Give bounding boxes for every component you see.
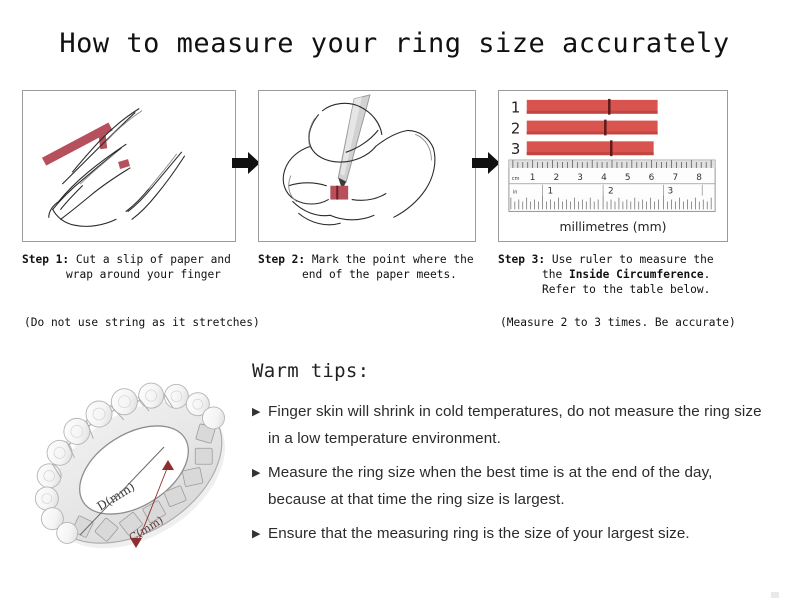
step-2-illustration-panel <box>258 90 476 242</box>
step-3-illustration-panel: 1 2 3 <box>498 90 728 242</box>
ruler-cm-tick-3: 3 <box>577 173 583 183</box>
corner-artifact <box>771 592 779 598</box>
step-3-caption: Step 3: Use ruler to measure the the Ins… <box>498 252 728 297</box>
step-3-note: (Measure 2 to 3 times. Be accurate) <box>500 316 736 329</box>
warm-tip-item: ▶ Measure the ring size when the best ti… <box>252 459 772 513</box>
ruler-inch-tick-2: 2 <box>608 187 614 197</box>
step-1-note: (Do not use string as it stretches) <box>24 316 260 329</box>
ring-diagram: D(mm) C(mm) <box>18 352 250 582</box>
step-3: 1 2 3 <box>498 90 728 297</box>
arrow-step2-to-step3 <box>472 150 500 176</box>
step-3-line2-emphasis: Inside Circumference <box>569 268 704 281</box>
ruler-cm-tick-2: 2 <box>554 173 560 183</box>
step-3-line2-suffix: . <box>704 268 711 281</box>
step-2-line2: end of the paper meets. <box>258 267 476 282</box>
step-1-line2: wrap around your finger <box>22 267 236 282</box>
ruler-inch-tick-1: 1 <box>548 187 554 197</box>
ruler-cm-tick-4: 4 <box>601 173 607 183</box>
warm-tip-text-2: Measure the ring size when the best time… <box>268 459 772 513</box>
strip-number-1: 1 <box>511 100 520 117</box>
ruler-inch-unit: in <box>513 190 518 196</box>
step-3-line1: Use ruler to measure the <box>552 253 714 266</box>
warm-tip-item: ▶ Ensure that the measuring ring is the … <box>252 520 772 547</box>
step-3-line2: the Inside Circumference. <box>498 267 728 282</box>
step-1: Step 1: Cut a slip of paper and wrap aro… <box>22 90 236 282</box>
ruler-cm-tick-8: 8 <box>696 173 702 183</box>
step-3-line3: Refer to the table below. <box>498 282 728 297</box>
step-1-line1: Cut a slip of paper and <box>76 253 231 266</box>
bullet-triangle-icon: ▶ <box>252 459 268 486</box>
ruler-inch-tick-3: 3 <box>668 187 674 197</box>
warm-tips-heading: Warm tips: <box>252 360 772 382</box>
step-1-illustration-panel <box>22 90 236 242</box>
ruler-with-paper-strips-icon: 1 2 3 <box>499 91 727 241</box>
step-3-line2-prefix: the <box>542 268 569 281</box>
ruler-cm-tick-1: 1 <box>530 173 536 183</box>
ruler-cm-tick-6: 6 <box>649 173 655 183</box>
page-title: How to measure your ring size accurately <box>0 28 789 59</box>
warm-tip-item: ▶ Finger skin will shrink in cold temper… <box>252 398 772 452</box>
ruler-cm-tick-7: 7 <box>672 173 678 183</box>
strip-number-3: 3 <box>511 141 520 158</box>
ruler-cm-unit: cm <box>512 176 520 182</box>
step-2: Step 2: Mark the point where the end of … <box>258 90 476 282</box>
warm-tips-section: Warm tips: ▶ Finger skin will shrink in … <box>252 360 772 554</box>
step-1-caption: Step 1: Cut a slip of paper and wrap aro… <box>22 252 236 282</box>
step-2-caption: Step 2: Mark the point where the end of … <box>258 252 476 282</box>
bullet-triangle-icon: ▶ <box>252 398 268 425</box>
step-2-label: Step 2: <box>258 253 305 266</box>
hand-marking-paper-with-pen-icon <box>259 91 475 241</box>
step-1-label: Step 1: <box>22 253 69 266</box>
diamond-eternity-ring-diagram: D(mm) C(mm) <box>18 352 250 582</box>
step-2-line1: Mark the point where the <box>312 253 474 266</box>
warm-tip-text-1: Finger skin will shrink in cold temperat… <box>268 398 772 452</box>
warm-tip-text-3: Ensure that the measuring ring is the si… <box>268 520 772 547</box>
ring-size-guide-page: How to measure your ring size accurately <box>0 0 789 606</box>
hand-with-paper-slip-icon <box>23 91 235 241</box>
bullet-triangle-icon: ▶ <box>252 520 268 547</box>
arrow-step1-to-step2 <box>232 150 260 176</box>
strip-number-2: 2 <box>511 120 520 137</box>
steps-row: Step 1: Cut a slip of paper and wrap aro… <box>0 90 789 340</box>
step-3-label: Step 3: <box>498 253 545 266</box>
ruler-unit-label: millimetres (mm) <box>559 220 666 234</box>
ruler-cm-tick-5: 5 <box>625 173 631 183</box>
